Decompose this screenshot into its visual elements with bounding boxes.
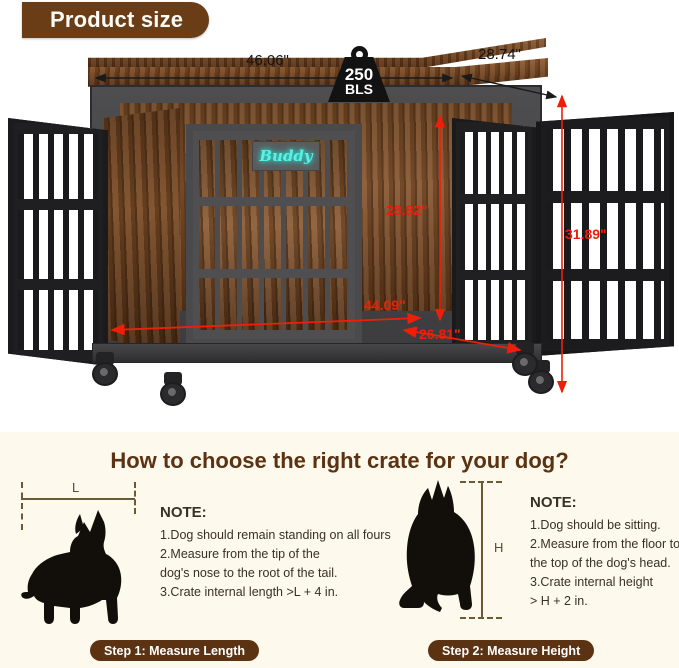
choose-crate-section: How to choose the right crate for your d… bbox=[0, 432, 679, 668]
dimension-overall-width-label: 46.06" bbox=[246, 52, 289, 69]
note-line: > H + 2 in. bbox=[530, 592, 679, 611]
product-size-banner: Product size bbox=[22, 2, 209, 38]
note-title-step1: NOTE: bbox=[160, 504, 391, 521]
caster-rear-right bbox=[512, 342, 538, 376]
left-door-bars bbox=[18, 128, 98, 356]
product-size-banner-label: Product size bbox=[50, 7, 183, 33]
dimension-interior-height-label: 28.82" bbox=[386, 202, 428, 218]
length-guide-letter: L bbox=[72, 480, 79, 495]
step-pill-2: Step 2: Measure Height bbox=[428, 640, 594, 661]
left-door-rail-mid1 bbox=[13, 199, 103, 210]
right-inner-door-rail-mid1 bbox=[456, 194, 532, 204]
length-guide-bar bbox=[21, 498, 135, 500]
note-title-step2: NOTE: bbox=[530, 494, 679, 511]
note-line: 3.Crate internal length >L + 4 in. bbox=[160, 583, 391, 602]
weight-badge-unit: BLS bbox=[345, 82, 373, 97]
front-door-rail-mid1 bbox=[193, 197, 355, 206]
step-pill-1: Step 1: Measure Length bbox=[90, 640, 259, 661]
caster-wheel bbox=[512, 352, 538, 376]
choose-crate-title: How to choose the right crate for your d… bbox=[0, 448, 679, 474]
dimension-interior-depth-label: 26.81" bbox=[419, 326, 461, 342]
right-outer-door-rail-mid1 bbox=[541, 191, 669, 203]
crate-right-door-inner-open bbox=[452, 118, 536, 354]
right-outer-door-rail-mid2 bbox=[541, 269, 669, 281]
buddy-nameplate-text: Buddy bbox=[259, 147, 312, 165]
dog-silhouette-standing bbox=[20, 506, 150, 624]
left-door-rail-mid2 bbox=[13, 279, 103, 290]
weight-capacity-badge: 250 BLS bbox=[328, 46, 390, 102]
dimension-interior-length-label: 44.09" bbox=[364, 297, 406, 313]
front-door-stile-right bbox=[349, 131, 355, 339]
note-line: 1.Dog should be sitting. bbox=[530, 516, 679, 535]
weight-badge-value: 250 bbox=[345, 67, 373, 82]
crate-base-rail bbox=[92, 343, 542, 363]
height-guide-letter: H bbox=[494, 540, 503, 555]
step-pill-1-label: Step 1: Measure Length bbox=[104, 644, 245, 658]
note-line: the top of the dog's head. bbox=[530, 554, 679, 573]
right-inner-door-rail-mid2 bbox=[456, 270, 532, 280]
note-line: dog's nose to the root of the tail. bbox=[160, 564, 391, 583]
front-door-rail-top bbox=[193, 131, 355, 140]
right-inner-door-bars bbox=[460, 126, 528, 346]
note-line: 2.Measure from the tip of the bbox=[160, 545, 391, 564]
dog-silhouette-sitting bbox=[398, 478, 484, 620]
front-door-rail-bottom bbox=[193, 330, 355, 339]
dimension-overall-depth-label: 28.74" bbox=[478, 46, 521, 63]
note-block-step2: NOTE: 1.Dog should be sitting. 2.Measure… bbox=[530, 494, 679, 611]
dimension-overall-height-label: 31.89" bbox=[565, 226, 607, 242]
note-block-step1: NOTE: 1.Dog should remain standing on al… bbox=[160, 504, 391, 602]
caster-wheel bbox=[92, 362, 118, 386]
note-line: 2.Measure from the floor to bbox=[530, 535, 679, 554]
front-door-stile-left bbox=[193, 131, 199, 339]
note-line: 3.Crate internal height bbox=[530, 573, 679, 592]
weight-badge-body: 250 BLS bbox=[328, 57, 390, 102]
note-line: 1.Dog should remain standing on all four… bbox=[160, 526, 391, 545]
buddy-nameplate: Buddy bbox=[252, 141, 320, 171]
product-size-section: Product size Buddy bbox=[0, 0, 679, 432]
caster-wheel bbox=[160, 382, 186, 406]
crate-left-door-open bbox=[8, 118, 108, 366]
caster-front-left bbox=[160, 372, 186, 406]
caster-rear-left bbox=[92, 352, 118, 386]
crate-left-interior-panel bbox=[104, 108, 180, 358]
step-pill-2-label: Step 2: Measure Height bbox=[442, 644, 580, 658]
front-door-rail-mid2 bbox=[193, 269, 355, 278]
